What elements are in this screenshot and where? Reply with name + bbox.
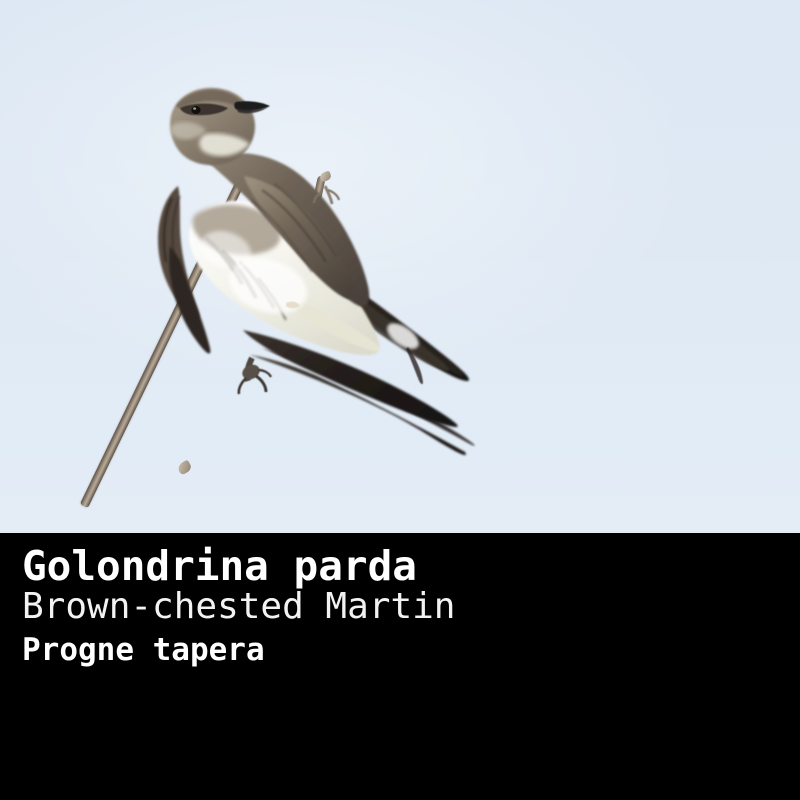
brown-chested-martin-bird bbox=[0, 0, 800, 533]
common-name: Golondrina parda bbox=[22, 544, 622, 588]
bird-eye bbox=[191, 106, 200, 114]
species-name-block: Golondrina parda Brown-chested Martin Pr… bbox=[22, 544, 622, 670]
bird-beak bbox=[234, 101, 270, 113]
scientific-name: Progne tapera bbox=[22, 630, 622, 670]
caption-band: Golondrina parda Brown-chested Martin Pr… bbox=[0, 533, 800, 800]
bird-foot-lower bbox=[239, 358, 271, 394]
english-name: Brown-chested Martin bbox=[22, 586, 622, 628]
bird-photograph bbox=[0, 0, 800, 533]
bird-photo-card: Golondrina parda Brown-chested Martin Pr… bbox=[0, 0, 800, 800]
